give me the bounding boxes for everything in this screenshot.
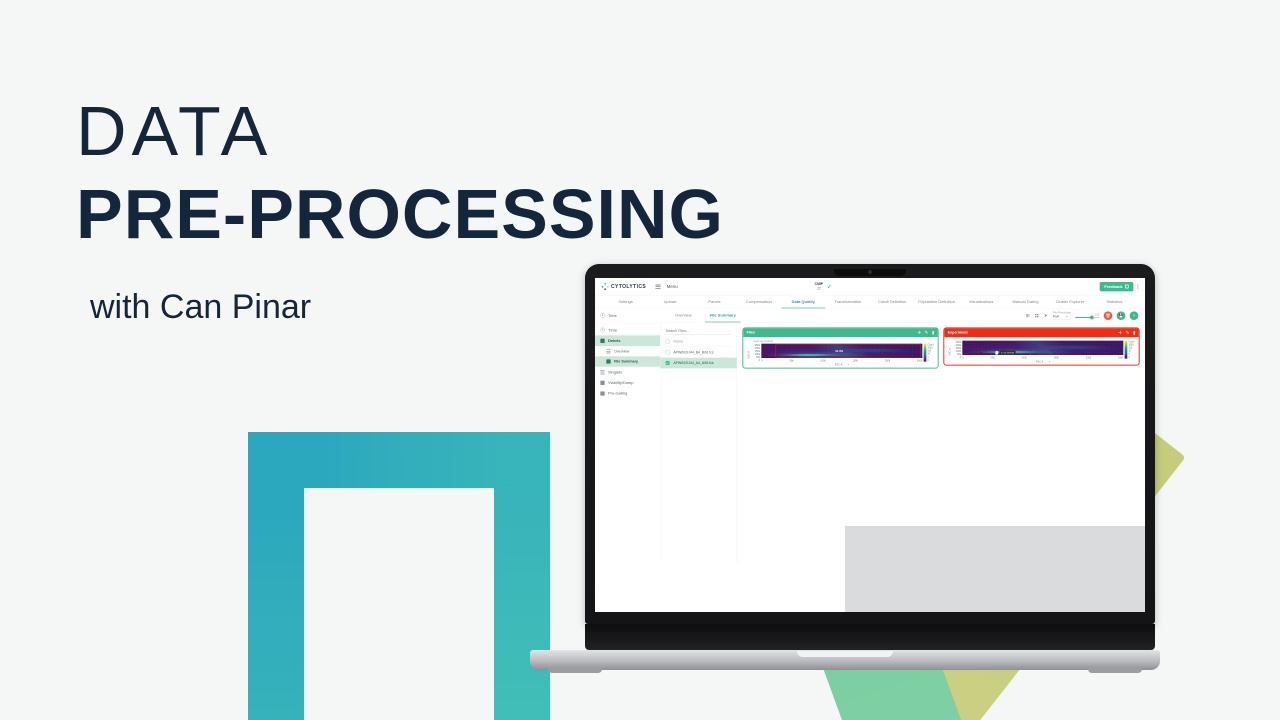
sidebar-item-time[interactable]: Time	[595, 325, 660, 336]
colorbar-1: Count 1000 100 10 1 0	[924, 344, 935, 367]
plot-size-slider[interactable]: 100	[1075, 313, 1099, 318]
search-input[interactable]	[665, 327, 732, 335]
x-axis-label-wrap[interactable]: FSC-A ▾	[761, 363, 922, 367]
clock-icon	[600, 328, 605, 333]
colorbar-2: Count 1000 100 10 1 0	[1125, 341, 1136, 364]
split-horizontal-icon[interactable]: ⊞	[1025, 312, 1031, 318]
check-icon: ✓	[827, 283, 831, 290]
sidebar-item-label: Viability/Dump	[608, 380, 633, 385]
view-tab-file-summary[interactable]: File Summary	[705, 309, 741, 323]
file-name: APW002IJ44_A4_A06.fcs	[673, 361, 713, 365]
y-tick: 0	[759, 359, 760, 362]
view-tab-overview[interactable]: Overview	[670, 309, 696, 323]
laptop-foot-left	[548, 668, 602, 673]
sidebar-item-overview[interactable]: Overview	[595, 346, 660, 356]
pencil-icon[interactable]: ✎	[1126, 330, 1130, 335]
title-line-2: PRE-PROCESSING	[76, 174, 724, 255]
coordinate-tooltip: X: 52.717546 Y: 52.48503k Z: 5	[999, 351, 1015, 355]
file-name: APW002IJ44_B4_B06.fcs	[673, 350, 713, 354]
workflow-tab-statistics[interactable]: Statistics	[1093, 295, 1137, 308]
colorbar-tick: 100	[927, 350, 933, 352]
presenter-subtitle: with Can Pinar	[90, 288, 311, 327]
x-axis-label: FSC-A	[1036, 360, 1043, 363]
chevron-down-icon: ▾	[1049, 361, 1050, 363]
slider-value: 100	[1075, 313, 1099, 316]
workflow-tab-population-definition[interactable]: Population Definition	[915, 295, 959, 308]
hamburger-icon[interactable]	[655, 284, 660, 288]
section-indicator: Time	[595, 313, 660, 318]
laptop-mockup: CYTOLYTICS Menu CMIP 22 ✓	[530, 264, 1160, 684]
files-list: APW002IJ44_B4_B06.fcsAPW002IJ44_A4_A06.f…	[665, 347, 732, 368]
laptop-hinge	[585, 624, 1155, 650]
sub-toolbar: Time OverviewFile Summary ⊞ ➤ Plot Resol…	[595, 309, 1145, 323]
clock-icon	[600, 313, 605, 318]
x-axis-label-wrap[interactable]: FSC-A ▾	[962, 360, 1123, 364]
plot-resolution-select[interactable]: Plot Resolution Full ▾	[1053, 311, 1071, 319]
project-chip-value: 22	[817, 286, 821, 290]
plot-panel-header: Experiment ✛ ✎ ▮	[944, 328, 1138, 337]
sidebar-item-viability-dump[interactable]: Viability/Dump	[595, 377, 660, 388]
plot-resolution-value: Full	[1053, 315, 1059, 319]
files-pane: Name APW002IJ44_B4_B06.fcsAPW002IJ44_A4_…	[660, 323, 737, 562]
laptop-lid: CYTOLYTICS Menu CMIP 22 ✓	[585, 264, 1155, 624]
teal-arch-decoration	[248, 432, 550, 720]
sidebar: TimeDebrisOverviewFile SummarySingletsVi…	[595, 323, 660, 562]
workflow-tab-manual-gating[interactable]: Manual Gating	[1004, 295, 1048, 308]
plot-panel-body: (auto generated) 250k 200k 150k 100k 50k	[743, 337, 937, 368]
density-plot-2[interactable]: X: 52.717546 Y: 52.48503k Z: 5	[962, 341, 1123, 355]
colorbar-title: Count	[1128, 341, 1134, 343]
plot-panel-header: Files ✛ ✎ ▮	[743, 328, 937, 337]
workflow-tab-data-quality[interactable]: Data Quality	[781, 295, 825, 308]
laptop-screen: CYTOLYTICS Menu CMIP 22 ✓	[595, 278, 1145, 612]
title-line-1: DATA	[76, 96, 724, 166]
plot-panel-files: Files ✛ ✎ ▮ (auto generated)	[742, 327, 938, 368]
lines-icon	[606, 349, 610, 353]
help-button[interactable]: ?	[1130, 311, 1139, 320]
workflow-tab-bar: SettingsUploadPanelsCompensationData Qua…	[595, 295, 1145, 308]
workflow-tab-settings[interactable]: Settings	[604, 295, 648, 308]
add-plot-icon[interactable]: ✛	[1118, 330, 1122, 335]
colorbar-tick: 1	[1128, 353, 1134, 355]
cursor-icon	[995, 351, 998, 355]
lines-icon	[600, 370, 604, 374]
y-axis-2: 250k 200k 150k 100k 50k 0 SSC-A	[947, 341, 961, 364]
plot-panel-body: 250k 200k 150k 100k 50k 0 SSC-A	[944, 337, 1138, 365]
colorbar-gradient	[924, 344, 927, 362]
top-bar: CYTOLYTICS Menu CMIP 22 ✓	[595, 278, 1145, 295]
title-block: DATA PRE-PROCESSING	[76, 96, 724, 255]
grid-layout-icon[interactable]	[1035, 314, 1038, 317]
square-icon	[600, 380, 604, 384]
cursor-tool-icon[interactable]: ➤	[1043, 312, 1049, 318]
workflow-tab-visualizations[interactable]: Visualizations	[959, 295, 1003, 308]
slider-knob[interactable]	[1090, 316, 1094, 320]
logo-icon	[602, 283, 609, 290]
colorbar-tick: 100	[1128, 347, 1134, 349]
colorbar-tick: 0	[1128, 356, 1134, 358]
plot-panel-title: Files	[747, 331, 755, 335]
files-table-header: Name	[665, 335, 732, 347]
slide-canvas: DATA PRE-PROCESSING with Can Pinar CYTOL…	[0, 0, 1280, 720]
workflow-tab-compensation[interactable]: Compensation	[737, 295, 781, 308]
square-icon	[606, 359, 610, 363]
file-checkbox[interactable]	[666, 350, 670, 354]
colorbar-tick: 1	[927, 356, 933, 358]
plot-panel-experiment: Experiment ✛ ✎ ▮	[943, 327, 1139, 365]
sidebar-item-label: Debris	[608, 338, 620, 343]
file-row[interactable]: APW002IJ44_B4_B06.fcs	[665, 347, 732, 358]
y-axis-label: SSC-A	[747, 351, 750, 359]
delete-button[interactable]: 🗑	[1104, 311, 1113, 320]
project-chip: CMIP 22	[815, 282, 823, 290]
colorbar-tick: 0	[927, 359, 933, 361]
select-all-checkbox[interactable]	[666, 340, 670, 344]
workflow-tab-upload[interactable]: Upload	[648, 295, 692, 308]
files-column-name: Name	[673, 340, 683, 344]
chevron-down-icon: ▾	[1066, 315, 1067, 318]
header-right: Feedback	[1100, 282, 1139, 291]
rectangle-gate[interactable]	[776, 344, 921, 358]
colorbar-gradient	[1125, 341, 1128, 359]
density-plot-1[interactable]: 91.3%	[761, 344, 922, 358]
y-axis-1: 250k 200k 150k 100k 50k 0 SSC-A	[746, 344, 760, 367]
colorbar-tick: 1000	[927, 347, 933, 349]
menu-label[interactable]: Menu	[667, 284, 678, 289]
feedback-button[interactable]: Feedback	[1100, 282, 1134, 291]
save-button[interactable]: 💾	[1117, 311, 1126, 320]
section-label: Time	[608, 313, 617, 318]
square-icon	[600, 338, 604, 342]
workflow-tab-cutoff-definition[interactable]: Cutoff Definition	[870, 295, 914, 308]
trash-icon[interactable]: ▮	[932, 330, 934, 335]
sidebar-item-pre-gating[interactable]: Pre-Gating	[595, 388, 660, 399]
sidebar-item-debris[interactable]: Debris	[595, 335, 660, 346]
sidebar-item-label: Overview	[614, 349, 629, 353]
brand-name: CYTOLYTICS	[611, 284, 646, 290]
chat-icon	[1125, 285, 1129, 289]
sidebar-item-singlets[interactable]: Singlets	[595, 367, 660, 378]
workflow-tab-cluster-explorer[interactable]: Cluster Explorer	[1048, 295, 1092, 308]
sidebar-item-label: Time	[608, 328, 617, 333]
workflow-tab-transformation[interactable]: Transformation	[826, 295, 870, 308]
colorbar-tick: 10	[927, 353, 933, 355]
plot-toolbar: ⊞ ➤ Plot Resolution Full ▾	[1025, 311, 1145, 320]
trash-icon[interactable]: ▮	[1133, 330, 1135, 335]
base-notch	[797, 651, 893, 657]
add-plot-icon[interactable]: ✛	[917, 330, 921, 335]
laptop-foot-right	[1088, 668, 1142, 673]
y-axis-label: SSC-A	[948, 348, 951, 356]
gate-percentage: 91.3%	[835, 350, 843, 353]
feedback-label: Feedback	[1104, 284, 1122, 289]
square-icon	[600, 391, 604, 395]
sidebar-item-label: Singlets	[608, 370, 622, 375]
plot-panel-title: Experiment	[948, 331, 968, 335]
colorbar-tick: 10	[1128, 350, 1134, 352]
sidebar-item-file-summary[interactable]: File Summary	[595, 356, 660, 366]
colorbar-title: Count	[927, 344, 933, 346]
brand-logo[interactable]: CYTOLYTICS	[602, 283, 646, 290]
view-tab-bar: OverviewFile Summary	[660, 309, 740, 323]
file-checkbox[interactable]	[666, 361, 670, 365]
workflow-tab-panels[interactable]: Panels	[693, 295, 737, 308]
x-axis-label: FSC-A	[835, 363, 842, 366]
placeholder-block	[845, 526, 1145, 612]
sidebar-item-label: File Summary	[614, 359, 638, 363]
more-options-icon[interactable]	[1137, 284, 1138, 288]
sidebar-item-label: Pre-Gating	[608, 391, 627, 396]
laptop-base	[530, 650, 1160, 670]
header-center: CMIP 22 ✓	[815, 282, 832, 290]
camera-icon	[868, 270, 872, 274]
chevron-down-icon: ▾	[848, 364, 849, 366]
pencil-icon[interactable]: ✎	[925, 330, 929, 335]
y-tick: 0	[960, 356, 961, 359]
file-row[interactable]: APW002IJ44_A4_A06.fcs	[660, 358, 736, 369]
colorbar-tick: 1000	[1128, 344, 1134, 346]
